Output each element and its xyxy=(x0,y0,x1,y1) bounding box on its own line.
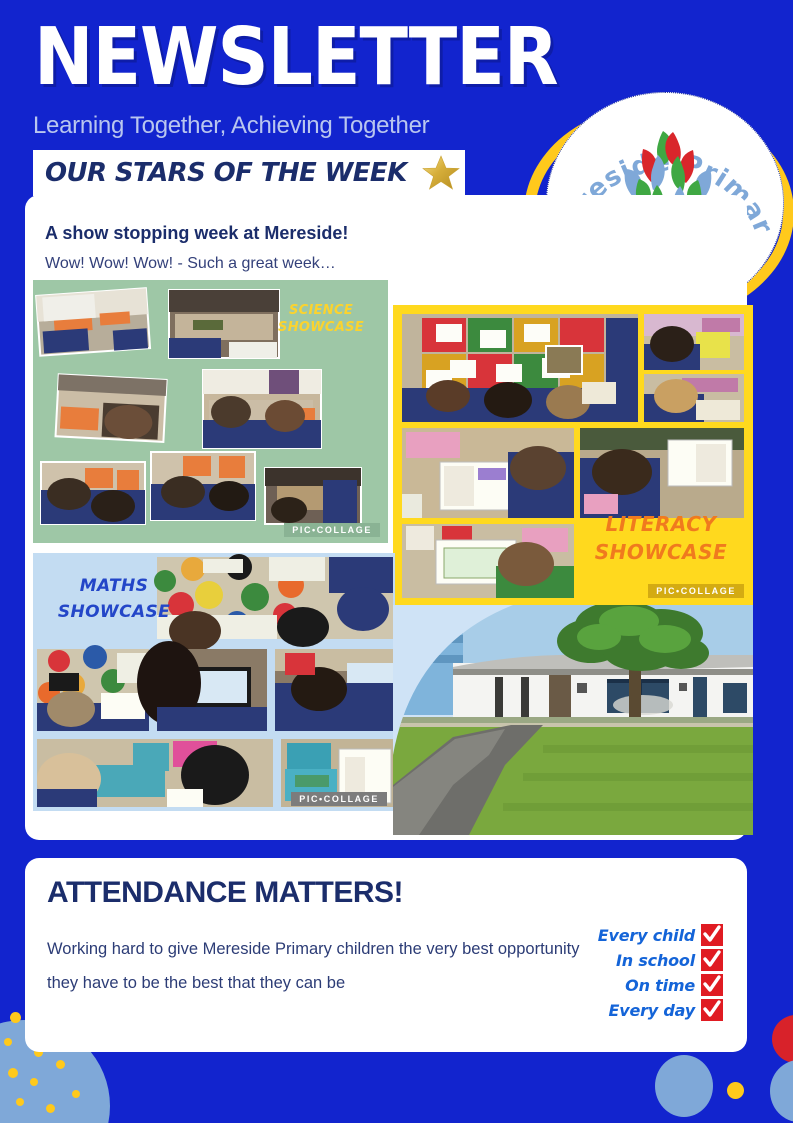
tagline: Learning Together, Achieving Together xyxy=(33,112,429,140)
main-subheadline: Wow! Wow! Wow! - Such a great week… xyxy=(45,255,336,273)
yellow-dot-decoration xyxy=(46,1104,55,1113)
checklist-label: On time xyxy=(625,976,695,995)
literacy-showcase-collage: LITERACY SHOWCASE PIC•COLLAGE xyxy=(393,305,753,605)
maths-showcase-label: MATHS SHOWCASE xyxy=(55,573,173,625)
page-title: NEWSLETTER xyxy=(34,14,558,100)
checklist-label: Every child xyxy=(598,926,695,945)
attendance-card: ATTENDANCE MATTERS! Working hard to give… xyxy=(25,858,747,1052)
yellow-dot-decoration xyxy=(72,1090,80,1098)
attendance-checklist: Every child In school On time Every day xyxy=(553,924,723,1024)
checklist-item: On time xyxy=(553,974,723,996)
literacy-showcase-label: LITERACY SHOWCASE xyxy=(586,510,736,566)
check-icon xyxy=(701,949,723,971)
check-icon xyxy=(701,999,723,1021)
stars-of-the-week-banner: OUR STARS OF THE WEEK xyxy=(33,150,465,196)
science-showcase-label: SCIENCE SHOWCASE xyxy=(266,302,376,336)
yellow-dot-decoration xyxy=(30,1078,38,1086)
yellow-dot-decoration xyxy=(8,1068,18,1078)
attendance-body: Working hard to give Mereside Primary ch… xyxy=(47,932,607,1000)
checklist-item: In school xyxy=(553,949,723,971)
checklist-label: In school xyxy=(616,951,695,970)
stars-banner-label: OUR STARS OF THE WEEK xyxy=(45,158,407,188)
checklist-item: Every child xyxy=(553,924,723,946)
checklist-label: Every day xyxy=(609,1001,696,1020)
yellow-dot-decoration xyxy=(56,1060,65,1069)
school-building-photo xyxy=(393,605,753,835)
maths-showcase-collage: MATHS SHOWCASE PIC•COLLAGE xyxy=(33,553,395,811)
piccollage-watermark: PIC•COLLAGE xyxy=(291,792,387,806)
yellow-dot-decoration xyxy=(727,1082,744,1099)
yellow-dot-decoration xyxy=(16,1098,24,1106)
bottom-right-red-circle-decoration xyxy=(772,1015,793,1063)
checklist-item: Every day xyxy=(553,999,723,1021)
yellow-dot-decoration xyxy=(4,1038,12,1046)
attendance-title: ATTENDANCE MATTERS! xyxy=(47,876,403,910)
newsletter-page: NEWSLETTER Learning Together, Achieving … xyxy=(0,0,793,1123)
yellow-dot-decoration xyxy=(10,1012,21,1023)
stars-of-the-week-card: A show stopping week at Mereside! Wow! W… xyxy=(25,195,747,840)
gold-star-icon xyxy=(421,153,461,193)
piccollage-watermark: PIC•COLLAGE xyxy=(284,523,380,537)
piccollage-watermark: PIC•COLLAGE xyxy=(648,584,744,598)
science-showcase-collage: SCIENCE SHOWCASE PIC•COLLAGE xyxy=(33,280,388,543)
main-headline: A show stopping week at Mereside! xyxy=(45,223,348,244)
bottom-right-circle-decoration-2 xyxy=(770,1060,793,1122)
bottom-right-circle-decoration xyxy=(655,1055,713,1117)
check-icon xyxy=(701,924,723,946)
check-icon xyxy=(701,974,723,996)
